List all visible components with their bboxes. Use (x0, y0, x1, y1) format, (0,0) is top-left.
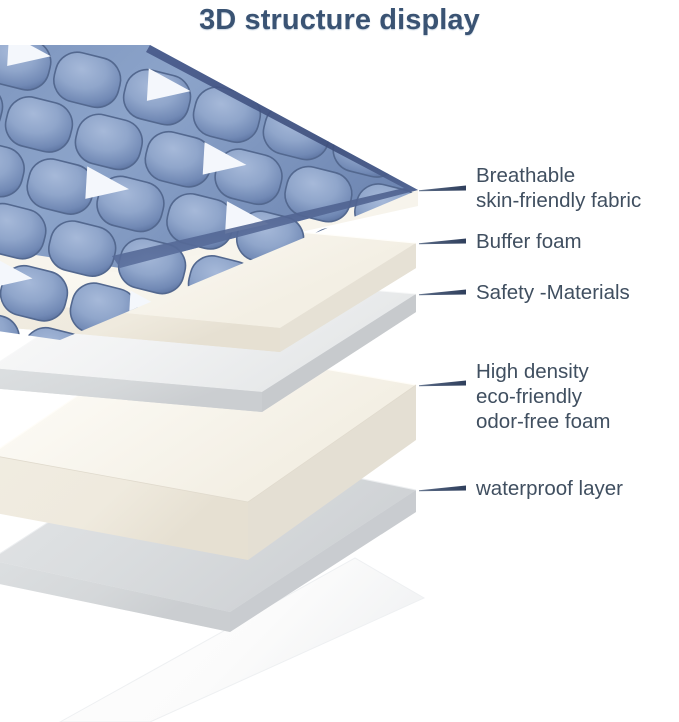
leader-line-high-density-foam (419, 381, 466, 387)
leader-line-waterproof-layer (419, 486, 466, 492)
label-buffer-foam: Buffer foam (476, 229, 582, 254)
label-breathable-skin-friendly-fabric: Breathable skin-friendly fabric (476, 163, 641, 213)
leader-lines (419, 186, 466, 492)
leader-line-breathable-fabric (419, 186, 466, 192)
label-safety-materials: Safety -Materials (476, 280, 630, 305)
label-high-density-eco-friendly-odor-free-foam: High density eco-friendly odor-free foam (476, 359, 610, 434)
label-waterproof-layer: waterproof layer (476, 476, 623, 501)
leader-line-safety-materials (419, 290, 466, 296)
leader-line-buffer-foam (419, 239, 466, 245)
